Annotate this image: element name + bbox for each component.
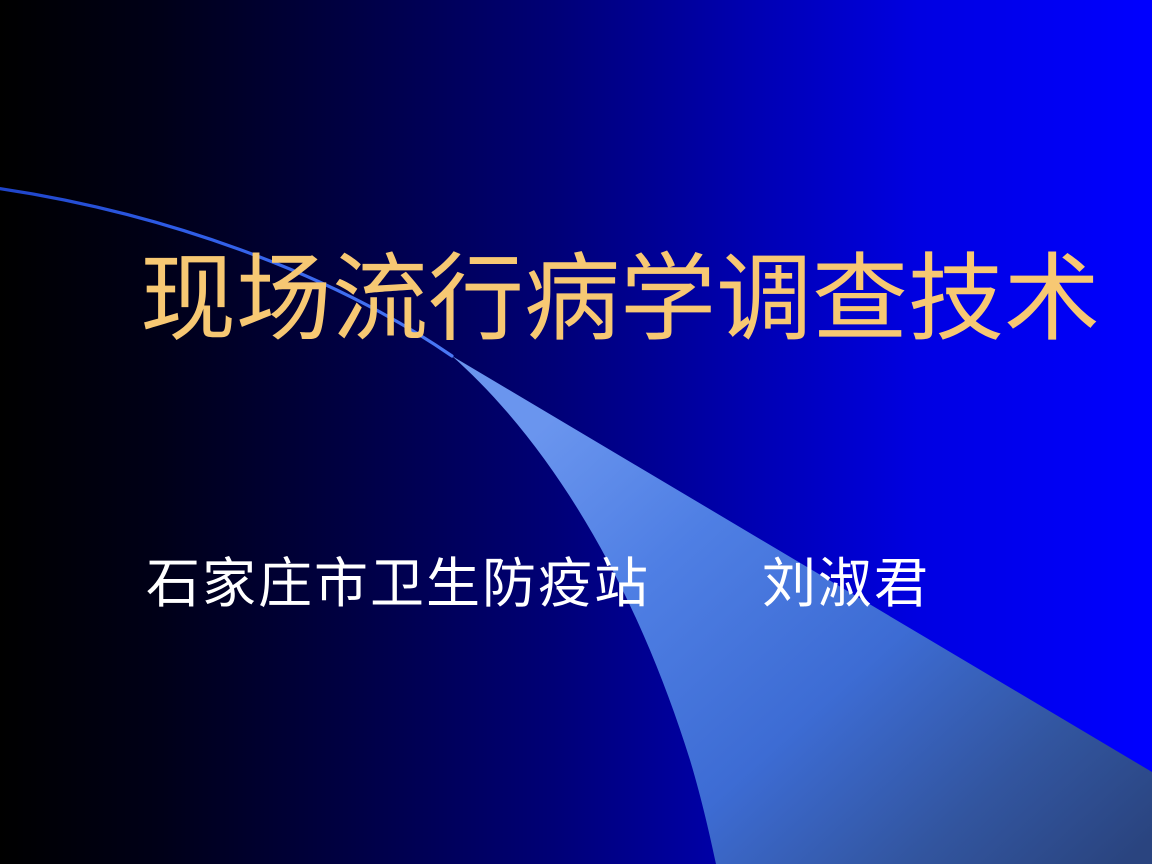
slide-subtitle: 石家庄市卫生防疫站 刘淑君 xyxy=(146,557,1046,611)
title-slide: 现场流行病学调查技术 石家庄市卫生防疫站 刘淑君 xyxy=(0,0,1152,864)
slide-title: 现场流行病学调查技术 xyxy=(140,252,1040,348)
slide-text-layer: 现场流行病学调查技术 石家庄市卫生防疫站 刘淑君 xyxy=(0,0,1152,864)
